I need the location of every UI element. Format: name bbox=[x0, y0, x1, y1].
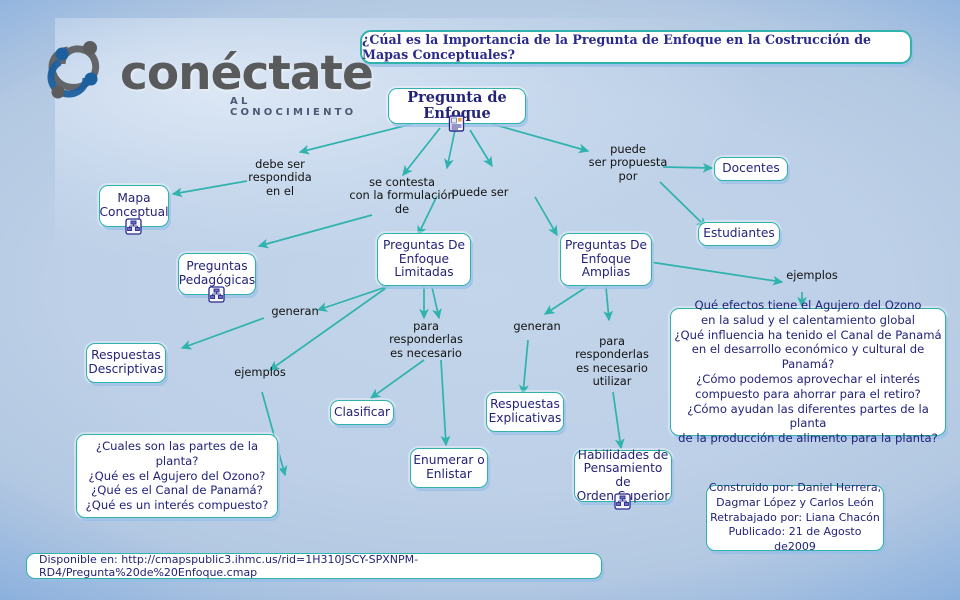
link-label-para-responderlas-utilizar: para responderlas es necesario utilizar bbox=[569, 335, 655, 389]
link-label-ejemplos-amplias: ejemplos bbox=[780, 269, 844, 282]
source-url-bar[interactable]: Disponible en: http://cmapspublic3.ihmc.… bbox=[26, 553, 602, 579]
node-label: Qué efectos tiene el Agujero del Ozono e… bbox=[671, 298, 945, 446]
node-label: Respuestas Explicativas bbox=[489, 398, 562, 425]
node-estudiantes[interactable]: Estudiantes bbox=[698, 222, 780, 246]
node-docentes[interactable]: Docentes bbox=[714, 157, 788, 181]
node-label: Enumerar o Enlistar bbox=[413, 454, 484, 481]
link-label-debe-ser-respondida: debe ser respondida en el bbox=[237, 158, 323, 198]
link-label-generan-limitadas: generan bbox=[260, 305, 330, 318]
node-label: Respuestas Descriptivas bbox=[88, 349, 163, 376]
link-label-ejemplos-limitadas: ejemplos bbox=[224, 366, 296, 379]
node-ejemplos-preguntas-limitadas[interactable]: ¿Cuales son las partes de la planta? ¿Qu… bbox=[76, 434, 278, 518]
node-label: Clasificar bbox=[334, 406, 390, 420]
node-enumerar-o-enlistar[interactable]: Enumerar o Enlistar bbox=[410, 448, 488, 488]
link-label-generan-amplias: generan bbox=[502, 320, 572, 333]
node-label: ¿Cuales son las partes de la planta? ¿Qu… bbox=[77, 439, 277, 513]
document-resource-icon[interactable] bbox=[448, 115, 465, 132]
node-respuestas-explicativas[interactable]: Respuestas Explicativas bbox=[486, 392, 564, 432]
node-label: Docentes bbox=[722, 162, 779, 176]
node-label: Preguntas Pedagógicas bbox=[179, 260, 255, 287]
credits-box: Construido por: Daniel Herrera, Dagmar L… bbox=[706, 485, 884, 551]
node-respuestas-descriptivas[interactable]: Respuestas Descriptivas bbox=[86, 343, 166, 383]
concept-map-resource-icon[interactable] bbox=[125, 218, 142, 235]
map-title-text: ¿Cúal es la Importancia de la Pregunta d… bbox=[362, 32, 910, 62]
node-clasificar[interactable]: Clasificar bbox=[330, 400, 394, 425]
concept-map-canvas: conéctate AL CONOCIMIENTO bbox=[0, 0, 960, 600]
concept-map-resource-icon[interactable] bbox=[208, 286, 225, 303]
node-label: Preguntas De Enfoque Limitadas bbox=[383, 239, 465, 280]
logo-wordmark: conéctate bbox=[120, 46, 373, 101]
source-url-text: Disponible en: http://cmapspublic3.ihmc.… bbox=[39, 553, 601, 579]
node-label: Preguntas De Enfoque Amplias bbox=[565, 239, 647, 280]
conectate-logo: conéctate AL CONOCIMIENTO bbox=[38, 34, 368, 124]
node-ejemplos-preguntas-amplias[interactable]: Qué efectos tiene el Agujero del Ozono e… bbox=[670, 308, 946, 436]
map-title-box: ¿Cúal es la Importancia de la Pregunta d… bbox=[360, 30, 912, 64]
node-preguntas-de-enfoque-limitadas[interactable]: Preguntas De Enfoque Limitadas bbox=[377, 233, 471, 286]
node-label: Estudiantes bbox=[703, 227, 775, 241]
node-preguntas-de-enfoque-amplias[interactable]: Preguntas De Enfoque Amplias bbox=[560, 233, 652, 286]
credits-text: Construido por: Daniel Herrera, Dagmar L… bbox=[707, 481, 883, 555]
link-label-puede-ser: puede ser bbox=[444, 186, 516, 199]
link-label-para-responderlas-clasificar: para responderlas es necesario bbox=[382, 320, 470, 360]
link-label-puede-ser-propuesta-por: puede ser propuesta por bbox=[583, 143, 673, 183]
concept-map-resource-icon[interactable] bbox=[614, 493, 631, 510]
node-label: Mapa Conceptual bbox=[100, 192, 169, 219]
logo-tagline: AL CONOCIMIENTO bbox=[230, 96, 368, 118]
